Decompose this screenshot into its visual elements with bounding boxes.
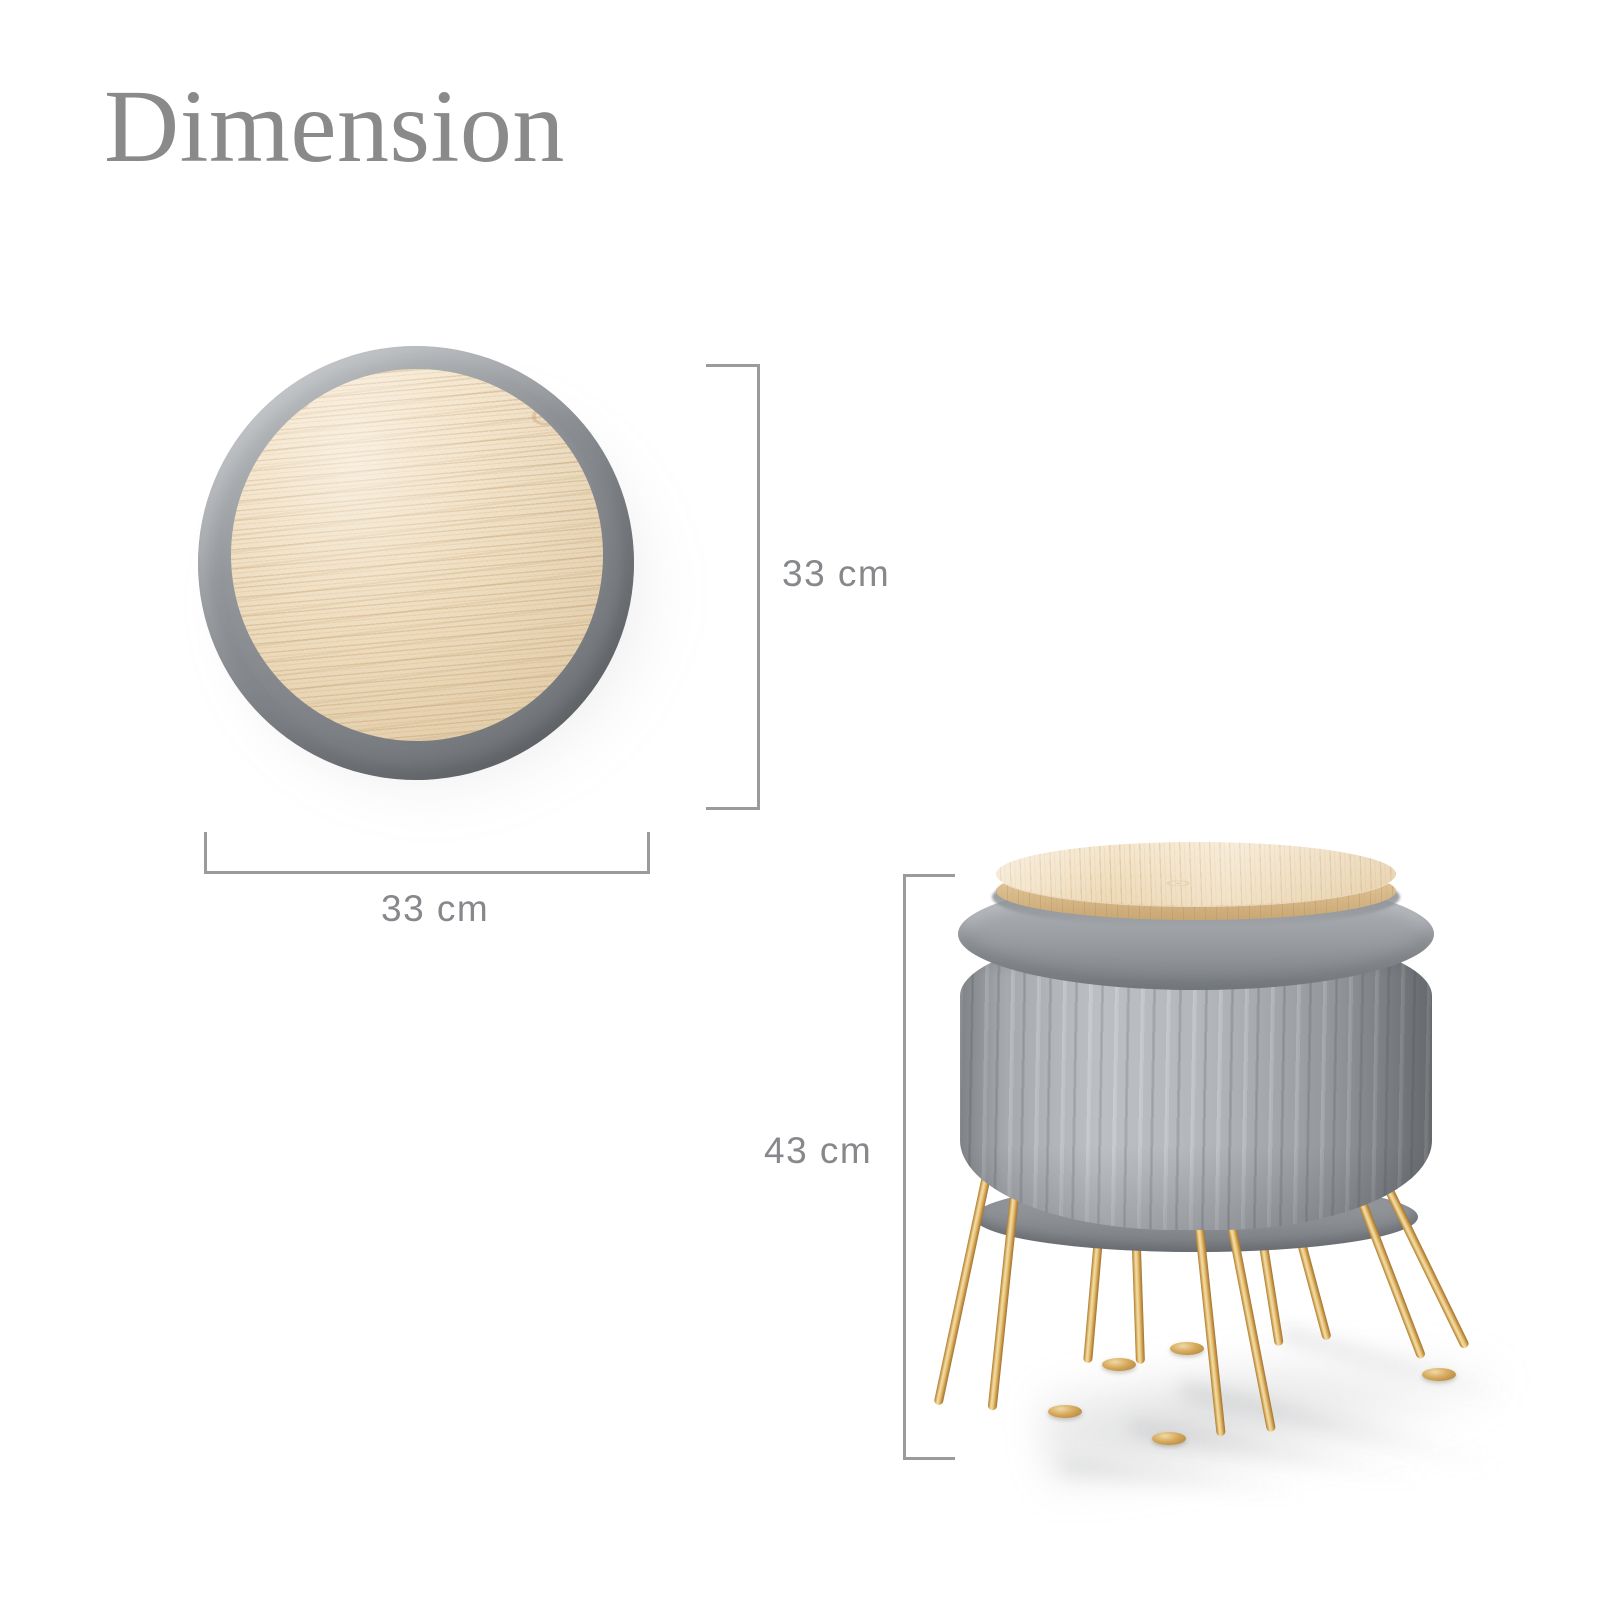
dim-tick-top <box>706 364 760 367</box>
dimension-label-33cm-vertical: 33 cm <box>782 553 890 595</box>
infographic-canvas: Dimension 33 cm 33 cm 43 cm <box>0 0 1600 1600</box>
ash-wood-panel <box>225 363 610 748</box>
dim-tick-right <box>647 832 650 874</box>
leg-foot-disc <box>1048 1405 1082 1418</box>
leg-foot-disc <box>1422 1368 1456 1381</box>
leg-foot-disc <box>1102 1358 1136 1371</box>
dim-line-vertical <box>757 364 760 810</box>
side-view-illustration <box>880 820 1500 1520</box>
page-title: Dimension <box>104 72 565 181</box>
leg-foot-disc <box>1152 1432 1186 1445</box>
dim-tick-bottom <box>706 807 760 810</box>
leg-foot-disc <box>1170 1342 1204 1355</box>
dimension-label-33cm-horizontal: 33 cm <box>381 888 489 930</box>
dim-line-horizontal <box>204 871 650 874</box>
dim-tick-left <box>204 832 207 874</box>
top-view-illustration <box>190 336 660 806</box>
dimension-label-43cm: 43 cm <box>764 1130 872 1172</box>
wooden-lid-top <box>996 842 1396 906</box>
lid-sheen-overlay <box>996 842 1396 906</box>
